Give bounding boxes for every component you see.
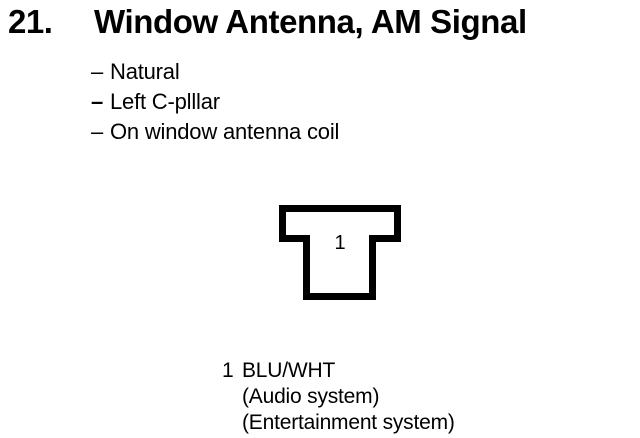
connector-legend: 1 BLU/WHT (Audio system) (Entertainment …	[222, 358, 622, 436]
title-heading-text: Window Antenna, AM Signal	[94, 2, 527, 42]
legend-wire-color: BLU/WHT	[242, 358, 335, 384]
dash-bullet-icon: –	[91, 87, 103, 117]
dash-bullet-icon: –	[91, 117, 103, 147]
list-item: – Natural	[91, 57, 521, 87]
title-item-number: 21.	[8, 2, 52, 42]
page-title: 21. Window Antenna, AM Signal	[0, 2, 640, 44]
list-item: – On window antenna coil	[91, 117, 521, 147]
list-item-label: Natural	[110, 57, 180, 87]
list-item-label: Left C-plllar	[110, 87, 220, 117]
connector-symbol: 1	[279, 205, 401, 300]
legend-note: (Entertainment system)	[242, 410, 640, 436]
legend-primary-row: 1 BLU/WHT	[222, 358, 622, 384]
list-item: – Left C-plllar	[91, 87, 521, 117]
connector-cavity-number: 1	[279, 233, 401, 253]
legend-cavity-index: 1	[222, 358, 234, 384]
specification-list: – Natural – Left C-plllar – On window an…	[91, 57, 521, 147]
dash-bullet-icon: –	[91, 57, 103, 87]
wiring-diagram-page: 21. Window Antenna, AM Signal – Natural …	[0, 0, 640, 438]
list-item-label: On window antenna coil	[110, 117, 339, 147]
legend-note: (Audio system)	[242, 384, 640, 410]
